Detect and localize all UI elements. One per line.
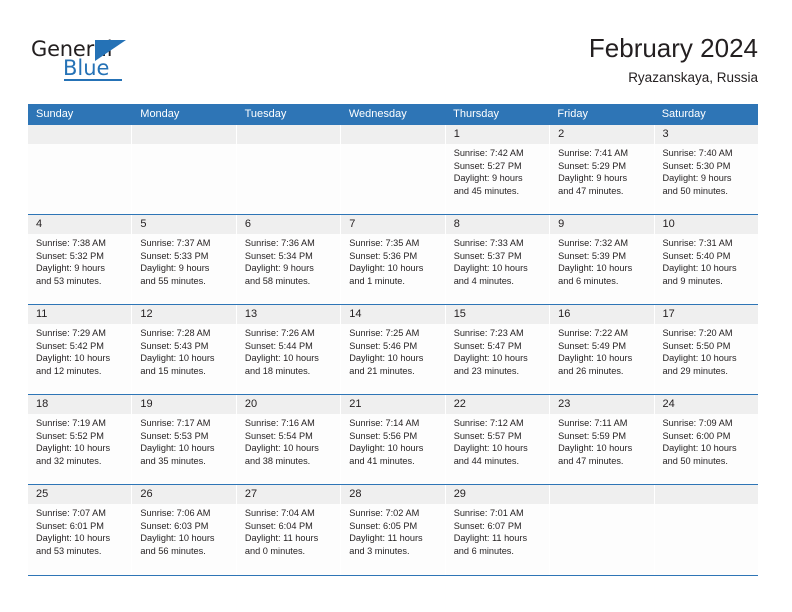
day-cell-13[interactable]: 13Sunrise: 7:26 AMSunset: 5:44 PMDayligh…	[237, 305, 341, 394]
day-sunset-text: Sunset: 5:40 PM	[663, 250, 752, 263]
day-sunrise-text: Sunrise: 7:09 AM	[663, 417, 752, 430]
logo-text-blue: Blue	[63, 56, 109, 80]
day-daylight-1-text: Daylight: 10 hours	[663, 262, 752, 275]
day-cell-2[interactable]: 2Sunrise: 7:41 AMSunset: 5:29 PMDaylight…	[550, 125, 654, 214]
day-number: 10	[655, 215, 758, 234]
day-sunrise-text: Sunrise: 7:42 AM	[454, 147, 543, 160]
day-cell-empty	[341, 125, 445, 214]
day-cell-24[interactable]: 24Sunrise: 7:09 AMSunset: 6:00 PMDayligh…	[655, 395, 758, 484]
day-cell-3[interactable]: 3Sunrise: 7:40 AMSunset: 5:30 PMDaylight…	[655, 125, 758, 214]
calendar-week-row: 1Sunrise: 7:42 AMSunset: 5:27 PMDaylight…	[28, 125, 758, 215]
day-cell-20[interactable]: 20Sunrise: 7:16 AMSunset: 5:54 PMDayligh…	[237, 395, 341, 484]
weekday-header-saturday: Saturday	[654, 104, 758, 125]
day-daylight-2-text: and 50 minutes.	[663, 455, 752, 468]
day-sunrise-text: Sunrise: 7:02 AM	[349, 507, 438, 520]
day-sunset-text: Sunset: 6:01 PM	[36, 520, 125, 533]
day-sun-info: Sunrise: 7:40 AMSunset: 5:30 PMDaylight:…	[655, 144, 758, 197]
day-sunrise-text: Sunrise: 7:11 AM	[558, 417, 647, 430]
day-daylight-2-text: and 4 minutes.	[454, 275, 543, 288]
day-sunset-text: Sunset: 5:27 PM	[454, 160, 543, 173]
day-number: 19	[132, 395, 235, 414]
day-number: 13	[237, 305, 340, 324]
day-sunrise-text: Sunrise: 7:40 AM	[663, 147, 752, 160]
day-daylight-1-text: Daylight: 9 hours	[140, 262, 229, 275]
day-sun-info: Sunrise: 7:04 AMSunset: 6:04 PMDaylight:…	[237, 504, 340, 557]
day-daylight-2-text: and 1 minute.	[349, 275, 438, 288]
day-daylight-1-text: Daylight: 10 hours	[454, 262, 543, 275]
day-number: 24	[655, 395, 758, 414]
day-daylight-2-text: and 44 minutes.	[454, 455, 543, 468]
weekday-header-monday: Monday	[132, 104, 236, 125]
day-daylight-2-text: and 15 minutes.	[140, 365, 229, 378]
day-daylight-1-text: Daylight: 10 hours	[558, 352, 647, 365]
day-sunset-text: Sunset: 5:46 PM	[349, 340, 438, 353]
weekday-header-row: SundayMondayTuesdayWednesdayThursdayFrid…	[28, 104, 758, 125]
day-cell-11[interactable]: 11Sunrise: 7:29 AMSunset: 5:42 PMDayligh…	[28, 305, 132, 394]
general-blue-logo[interactable]: General Blue	[31, 38, 151, 82]
day-sun-info: Sunrise: 7:06 AMSunset: 6:03 PMDaylight:…	[132, 504, 235, 557]
day-cell-27[interactable]: 27Sunrise: 7:04 AMSunset: 6:04 PMDayligh…	[237, 485, 341, 575]
day-number: 27	[237, 485, 340, 504]
day-daylight-1-text: Daylight: 10 hours	[558, 442, 647, 455]
calendar-week-row: 18Sunrise: 7:19 AMSunset: 5:52 PMDayligh…	[28, 395, 758, 485]
day-sun-info: Sunrise: 7:12 AMSunset: 5:57 PMDaylight:…	[446, 414, 549, 467]
day-daylight-2-text: and 3 minutes.	[349, 545, 438, 558]
day-sunset-text: Sunset: 5:50 PM	[663, 340, 752, 353]
day-sunset-text: Sunset: 6:04 PM	[245, 520, 334, 533]
day-sun-info: Sunrise: 7:31 AMSunset: 5:40 PMDaylight:…	[655, 234, 758, 287]
day-number	[28, 125, 131, 144]
day-daylight-2-text: and 29 minutes.	[663, 365, 752, 378]
day-daylight-1-text: Daylight: 10 hours	[140, 442, 229, 455]
calendar-weeks: 1Sunrise: 7:42 AMSunset: 5:27 PMDaylight…	[28, 125, 758, 576]
day-sunrise-text: Sunrise: 7:26 AM	[245, 327, 334, 340]
day-daylight-2-text: and 0 minutes.	[245, 545, 334, 558]
day-daylight-1-text: Daylight: 9 hours	[558, 172, 647, 185]
day-daylight-1-text: Daylight: 11 hours	[349, 532, 438, 545]
day-number: 20	[237, 395, 340, 414]
day-number: 11	[28, 305, 131, 324]
day-cell-7[interactable]: 7Sunrise: 7:35 AMSunset: 5:36 PMDaylight…	[341, 215, 445, 304]
day-daylight-2-text: and 18 minutes.	[245, 365, 334, 378]
calendar-week-row: 11Sunrise: 7:29 AMSunset: 5:42 PMDayligh…	[28, 305, 758, 395]
day-sun-info: Sunrise: 7:09 AMSunset: 6:00 PMDaylight:…	[655, 414, 758, 467]
day-cell-29[interactable]: 29Sunrise: 7:01 AMSunset: 6:07 PMDayligh…	[446, 485, 550, 575]
day-sunset-text: Sunset: 5:36 PM	[349, 250, 438, 263]
day-sunrise-text: Sunrise: 7:32 AM	[558, 237, 647, 250]
day-cell-19[interactable]: 19Sunrise: 7:17 AMSunset: 5:53 PMDayligh…	[132, 395, 236, 484]
day-daylight-2-text: and 9 minutes.	[663, 275, 752, 288]
day-sunset-text: Sunset: 6:00 PM	[663, 430, 752, 443]
day-sunrise-text: Sunrise: 7:17 AM	[140, 417, 229, 430]
day-sunrise-text: Sunrise: 7:31 AM	[663, 237, 752, 250]
day-number: 9	[550, 215, 653, 234]
day-number: 28	[341, 485, 444, 504]
day-sun-info: Sunrise: 7:37 AMSunset: 5:33 PMDaylight:…	[132, 234, 235, 287]
day-cell-empty	[550, 485, 654, 575]
day-number: 2	[550, 125, 653, 144]
title-block: February 2024 Ryazanskaya, Russia	[589, 33, 758, 87]
day-cell-5[interactable]: 5Sunrise: 7:37 AMSunset: 5:33 PMDaylight…	[132, 215, 236, 304]
day-sun-info: Sunrise: 7:29 AMSunset: 5:42 PMDaylight:…	[28, 324, 131, 377]
day-cell-18[interactable]: 18Sunrise: 7:19 AMSunset: 5:52 PMDayligh…	[28, 395, 132, 484]
day-sunset-text: Sunset: 6:07 PM	[454, 520, 543, 533]
day-sun-info: Sunrise: 7:28 AMSunset: 5:43 PMDaylight:…	[132, 324, 235, 377]
calendar-week-row: 4Sunrise: 7:38 AMSunset: 5:32 PMDaylight…	[28, 215, 758, 305]
day-sunrise-text: Sunrise: 7:23 AM	[454, 327, 543, 340]
day-number: 17	[655, 305, 758, 324]
day-daylight-1-text: Daylight: 9 hours	[36, 262, 125, 275]
day-sunset-text: Sunset: 5:53 PM	[140, 430, 229, 443]
day-daylight-1-text: Daylight: 10 hours	[454, 442, 543, 455]
day-number: 18	[28, 395, 131, 414]
day-daylight-1-text: Daylight: 10 hours	[140, 352, 229, 365]
weekday-header-tuesday: Tuesday	[237, 104, 341, 125]
day-sun-info: Sunrise: 7:25 AMSunset: 5:46 PMDaylight:…	[341, 324, 444, 377]
day-daylight-1-text: Daylight: 10 hours	[349, 442, 438, 455]
page-title: February 2024	[589, 33, 758, 63]
day-sun-info: Sunrise: 7:23 AMSunset: 5:47 PMDaylight:…	[446, 324, 549, 377]
day-sunset-text: Sunset: 5:43 PM	[140, 340, 229, 353]
day-cell-empty	[28, 125, 132, 214]
day-number: 23	[550, 395, 653, 414]
day-daylight-2-text: and 55 minutes.	[140, 275, 229, 288]
day-daylight-2-text: and 21 minutes.	[349, 365, 438, 378]
day-sunset-text: Sunset: 5:47 PM	[454, 340, 543, 353]
day-cell-6[interactable]: 6Sunrise: 7:36 AMSunset: 5:34 PMDaylight…	[237, 215, 341, 304]
day-sunrise-text: Sunrise: 7:37 AM	[140, 237, 229, 250]
day-daylight-1-text: Daylight: 10 hours	[245, 442, 334, 455]
day-daylight-2-text: and 47 minutes.	[558, 455, 647, 468]
day-sunset-text: Sunset: 5:30 PM	[663, 160, 752, 173]
day-daylight-2-text: and 38 minutes.	[245, 455, 334, 468]
day-sun-info: Sunrise: 7:32 AMSunset: 5:39 PMDaylight:…	[550, 234, 653, 287]
day-daylight-1-text: Daylight: 10 hours	[36, 532, 125, 545]
day-daylight-1-text: Daylight: 9 hours	[245, 262, 334, 275]
day-daylight-1-text: Daylight: 10 hours	[349, 262, 438, 275]
day-sunrise-text: Sunrise: 7:04 AM	[245, 507, 334, 520]
day-cell-16[interactable]: 16Sunrise: 7:22 AMSunset: 5:49 PMDayligh…	[550, 305, 654, 394]
day-number: 7	[341, 215, 444, 234]
day-sun-info: Sunrise: 7:20 AMSunset: 5:50 PMDaylight:…	[655, 324, 758, 377]
day-sunrise-text: Sunrise: 7:06 AM	[140, 507, 229, 520]
weekday-header-wednesday: Wednesday	[341, 104, 445, 125]
day-number: 21	[341, 395, 444, 414]
day-sunrise-text: Sunrise: 7:35 AM	[349, 237, 438, 250]
day-number: 1	[446, 125, 549, 144]
day-sunrise-text: Sunrise: 7:12 AM	[454, 417, 543, 430]
day-sunrise-text: Sunrise: 7:19 AM	[36, 417, 125, 430]
logo-blue-wrap: Blue	[63, 57, 109, 80]
day-sunset-text: Sunset: 5:57 PM	[454, 430, 543, 443]
day-sun-info: Sunrise: 7:01 AMSunset: 6:07 PMDaylight:…	[446, 504, 549, 557]
day-sunrise-text: Sunrise: 7:25 AM	[349, 327, 438, 340]
page-subtitle-location: Ryazanskaya, Russia	[589, 68, 758, 87]
day-number: 29	[446, 485, 549, 504]
day-sun-info: Sunrise: 7:14 AMSunset: 5:56 PMDaylight:…	[341, 414, 444, 467]
day-number: 8	[446, 215, 549, 234]
page-header: General Blue February 2024 Ryazanskaya, …	[0, 0, 792, 104]
day-sunset-text: Sunset: 5:44 PM	[245, 340, 334, 353]
weekday-header-sunday: Sunday	[28, 104, 132, 125]
day-sunrise-text: Sunrise: 7:01 AM	[454, 507, 543, 520]
day-sunset-text: Sunset: 5:33 PM	[140, 250, 229, 263]
day-sun-info: Sunrise: 7:42 AMSunset: 5:27 PMDaylight:…	[446, 144, 549, 197]
day-cell-10[interactable]: 10Sunrise: 7:31 AMSunset: 5:40 PMDayligh…	[655, 215, 758, 304]
day-sunset-text: Sunset: 5:37 PM	[454, 250, 543, 263]
day-sun-info: Sunrise: 7:38 AMSunset: 5:32 PMDaylight:…	[28, 234, 131, 287]
day-daylight-1-text: Daylight: 10 hours	[454, 352, 543, 365]
day-sun-info: Sunrise: 7:19 AMSunset: 5:52 PMDaylight:…	[28, 414, 131, 467]
day-cell-empty	[655, 485, 758, 575]
day-daylight-1-text: Daylight: 9 hours	[454, 172, 543, 185]
day-number: 12	[132, 305, 235, 324]
day-cell-22[interactable]: 22Sunrise: 7:12 AMSunset: 5:57 PMDayligh…	[446, 395, 550, 484]
day-number: 14	[341, 305, 444, 324]
day-daylight-2-text: and 12 minutes.	[36, 365, 125, 378]
day-sun-info: Sunrise: 7:33 AMSunset: 5:37 PMDaylight:…	[446, 234, 549, 287]
day-sunrise-text: Sunrise: 7:36 AM	[245, 237, 334, 250]
day-number: 25	[28, 485, 131, 504]
weekday-header-friday: Friday	[549, 104, 653, 125]
day-cell-empty	[237, 125, 341, 214]
day-sunset-text: Sunset: 6:03 PM	[140, 520, 229, 533]
day-daylight-2-text: and 35 minutes.	[140, 455, 229, 468]
day-cell-28[interactable]: 28Sunrise: 7:02 AMSunset: 6:05 PMDayligh…	[341, 485, 445, 575]
day-daylight-2-text: and 6 minutes.	[558, 275, 647, 288]
day-sun-info: Sunrise: 7:16 AMSunset: 5:54 PMDaylight:…	[237, 414, 340, 467]
day-sunset-text: Sunset: 5:42 PM	[36, 340, 125, 353]
day-daylight-1-text: Daylight: 10 hours	[36, 352, 125, 365]
day-daylight-2-text: and 45 minutes.	[454, 185, 543, 198]
day-daylight-1-text: Daylight: 10 hours	[663, 352, 752, 365]
day-daylight-2-text: and 47 minutes.	[558, 185, 647, 198]
day-cell-23[interactable]: 23Sunrise: 7:11 AMSunset: 5:59 PMDayligh…	[550, 395, 654, 484]
day-number: 22	[446, 395, 549, 414]
day-sunrise-text: Sunrise: 7:28 AM	[140, 327, 229, 340]
day-daylight-1-text: Daylight: 9 hours	[663, 172, 752, 185]
day-number: 3	[655, 125, 758, 144]
day-sun-info: Sunrise: 7:07 AMSunset: 6:01 PMDaylight:…	[28, 504, 131, 557]
day-sun-info: Sunrise: 7:26 AMSunset: 5:44 PMDaylight:…	[237, 324, 340, 377]
calendar-page: General Blue February 2024 Ryazanskaya, …	[0, 0, 792, 612]
day-sun-info: Sunrise: 7:36 AMSunset: 5:34 PMDaylight:…	[237, 234, 340, 287]
day-daylight-1-text: Daylight: 10 hours	[663, 442, 752, 455]
day-number	[655, 485, 758, 504]
day-daylight-1-text: Daylight: 11 hours	[245, 532, 334, 545]
day-daylight-2-text: and 26 minutes.	[558, 365, 647, 378]
day-cell-12[interactable]: 12Sunrise: 7:28 AMSunset: 5:43 PMDayligh…	[132, 305, 236, 394]
day-daylight-2-text: and 41 minutes.	[349, 455, 438, 468]
day-cell-21[interactable]: 21Sunrise: 7:14 AMSunset: 5:56 PMDayligh…	[341, 395, 445, 484]
day-cell-25[interactable]: 25Sunrise: 7:07 AMSunset: 6:01 PMDayligh…	[28, 485, 132, 575]
day-daylight-2-text: and 56 minutes.	[140, 545, 229, 558]
day-sun-info: Sunrise: 7:11 AMSunset: 5:59 PMDaylight:…	[550, 414, 653, 467]
day-sunset-text: Sunset: 6:05 PM	[349, 520, 438, 533]
day-cell-9[interactable]: 9Sunrise: 7:32 AMSunset: 5:39 PMDaylight…	[550, 215, 654, 304]
day-cell-4[interactable]: 4Sunrise: 7:38 AMSunset: 5:32 PMDaylight…	[28, 215, 132, 304]
day-daylight-1-text: Daylight: 10 hours	[558, 262, 647, 275]
day-number	[237, 125, 340, 144]
day-sunset-text: Sunset: 5:54 PM	[245, 430, 334, 443]
day-sunrise-text: Sunrise: 7:22 AM	[558, 327, 647, 340]
day-cell-15[interactable]: 15Sunrise: 7:23 AMSunset: 5:47 PMDayligh…	[446, 305, 550, 394]
day-number: 6	[237, 215, 340, 234]
day-daylight-1-text: Daylight: 11 hours	[454, 532, 543, 545]
day-daylight-1-text: Daylight: 10 hours	[140, 532, 229, 545]
calendar-grid: SundayMondayTuesdayWednesdayThursdayFrid…	[28, 104, 758, 576]
day-sun-info: Sunrise: 7:02 AMSunset: 6:05 PMDaylight:…	[341, 504, 444, 557]
day-sun-info: Sunrise: 7:17 AMSunset: 5:53 PMDaylight:…	[132, 414, 235, 467]
day-number	[341, 125, 444, 144]
day-sunset-text: Sunset: 5:34 PM	[245, 250, 334, 263]
day-sunset-text: Sunset: 5:56 PM	[349, 430, 438, 443]
day-daylight-2-text: and 58 minutes.	[245, 275, 334, 288]
day-daylight-1-text: Daylight: 10 hours	[245, 352, 334, 365]
day-sunrise-text: Sunrise: 7:38 AM	[36, 237, 125, 250]
day-number: 4	[28, 215, 131, 234]
day-sunrise-text: Sunrise: 7:14 AM	[349, 417, 438, 430]
day-sunrise-text: Sunrise: 7:41 AM	[558, 147, 647, 160]
day-sunrise-text: Sunrise: 7:16 AM	[245, 417, 334, 430]
day-daylight-1-text: Daylight: 10 hours	[349, 352, 438, 365]
day-number	[132, 125, 235, 144]
day-daylight-2-text: and 50 minutes.	[663, 185, 752, 198]
day-number: 16	[550, 305, 653, 324]
day-cell-1[interactable]: 1Sunrise: 7:42 AMSunset: 5:27 PMDaylight…	[446, 125, 550, 214]
day-sunset-text: Sunset: 5:39 PM	[558, 250, 647, 263]
day-sunset-text: Sunset: 5:49 PM	[558, 340, 647, 353]
day-sunset-text: Sunset: 5:59 PM	[558, 430, 647, 443]
day-sunrise-text: Sunrise: 7:07 AM	[36, 507, 125, 520]
day-sun-info: Sunrise: 7:41 AMSunset: 5:29 PMDaylight:…	[550, 144, 653, 197]
weekday-header-thursday: Thursday	[445, 104, 549, 125]
day-daylight-2-text: and 53 minutes.	[36, 545, 125, 558]
calendar-week-row: 25Sunrise: 7:07 AMSunset: 6:01 PMDayligh…	[28, 485, 758, 576]
day-sunset-text: Sunset: 5:32 PM	[36, 250, 125, 263]
logo-underline	[64, 79, 122, 81]
day-sunrise-text: Sunrise: 7:29 AM	[36, 327, 125, 340]
day-number: 26	[132, 485, 235, 504]
day-cell-8[interactable]: 8Sunrise: 7:33 AMSunset: 5:37 PMDaylight…	[446, 215, 550, 304]
day-sunset-text: Sunset: 5:52 PM	[36, 430, 125, 443]
day-daylight-2-text: and 53 minutes.	[36, 275, 125, 288]
day-number: 15	[446, 305, 549, 324]
day-sunset-text: Sunset: 5:29 PM	[558, 160, 647, 173]
day-daylight-2-text: and 23 minutes.	[454, 365, 543, 378]
day-cell-17[interactable]: 17Sunrise: 7:20 AMSunset: 5:50 PMDayligh…	[655, 305, 758, 394]
day-daylight-1-text: Daylight: 10 hours	[36, 442, 125, 455]
day-number: 5	[132, 215, 235, 234]
day-cell-26[interactable]: 26Sunrise: 7:06 AMSunset: 6:03 PMDayligh…	[132, 485, 236, 575]
day-sunrise-text: Sunrise: 7:33 AM	[454, 237, 543, 250]
day-cell-empty	[132, 125, 236, 214]
day-daylight-2-text: and 6 minutes.	[454, 545, 543, 558]
day-daylight-2-text: and 32 minutes.	[36, 455, 125, 468]
day-sunrise-text: Sunrise: 7:20 AM	[663, 327, 752, 340]
day-sun-info: Sunrise: 7:35 AMSunset: 5:36 PMDaylight:…	[341, 234, 444, 287]
day-cell-14[interactable]: 14Sunrise: 7:25 AMSunset: 5:46 PMDayligh…	[341, 305, 445, 394]
day-sun-info: Sunrise: 7:22 AMSunset: 5:49 PMDaylight:…	[550, 324, 653, 377]
day-number	[550, 485, 653, 504]
